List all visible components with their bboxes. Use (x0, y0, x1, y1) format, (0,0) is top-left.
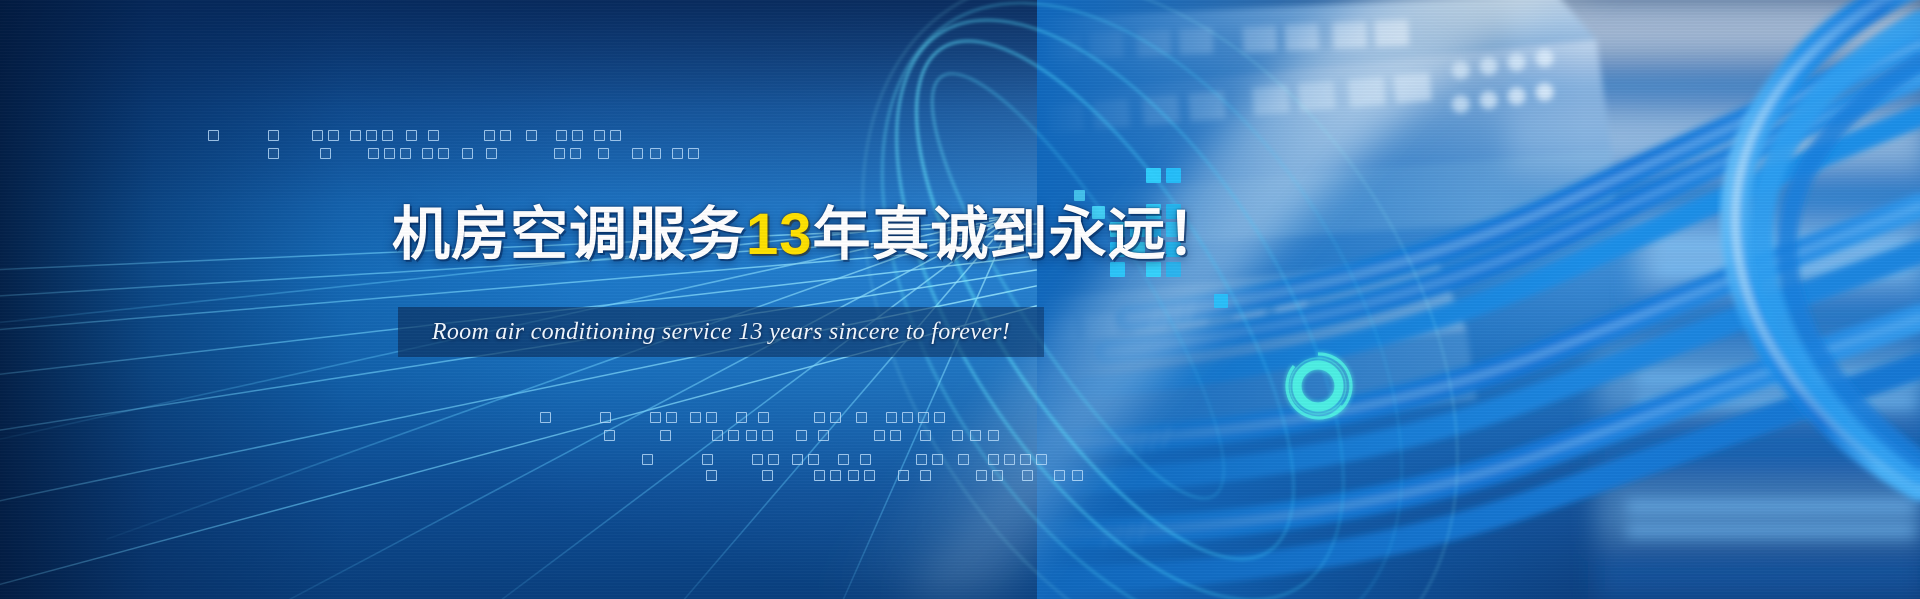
headline-part-1: 机房空调服务 (392, 202, 746, 267)
hero-banner: 机房空调服务13年真诚到永远！ Room air conditioning se… (0, 0, 1920, 599)
headline-highlight-number: 13 (746, 202, 813, 267)
subtitle: Room air conditioning service 13 years s… (398, 307, 1044, 357)
page-title: 机房空调服务13年真诚到永远！ (392, 206, 1226, 264)
banner-text-block: 机房空调服务13年真诚到永远！ Room air conditioning se… (0, 0, 1920, 599)
headline-part-2: 年真诚到永远！ (813, 202, 1226, 267)
